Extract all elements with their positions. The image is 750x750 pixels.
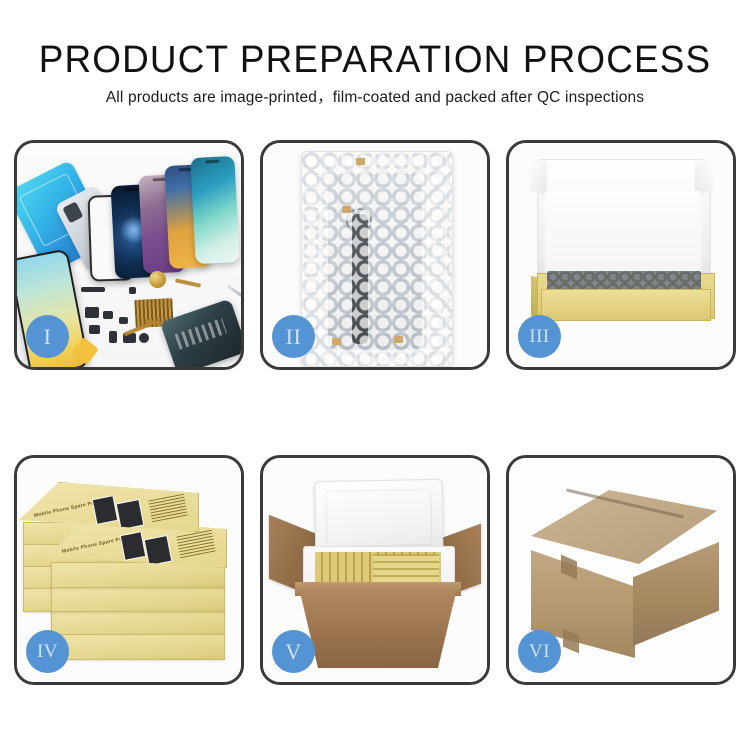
step-card-6: VI [506, 455, 736, 685]
step-badge-4: IV [26, 630, 69, 673]
bubble-wrap-bag [301, 151, 453, 367]
header: PRODUCT PREPARATION PROCESS All products… [0, 0, 750, 107]
step-card-1: I [14, 140, 244, 370]
page-subtitle: All products are image-printed，film-coat… [0, 89, 750, 107]
step-badge-1: I [26, 315, 69, 358]
step-badge-3: III [518, 315, 561, 358]
page-title: PRODUCT PREPARATION PROCESS [11, 40, 739, 80]
step-badge-5: V [272, 630, 315, 673]
spare-parts-scatter [79, 269, 241, 367]
step-card-5: V [260, 455, 490, 685]
foam-insert [545, 191, 701, 275]
outer-carton-body [299, 588, 457, 668]
step-badge-2: II [272, 315, 315, 358]
product-preparation-infographic: PRODUCT PREPARATION PROCESS All products… [0, 0, 750, 750]
step-card-4: Mobile Phone Spare Parts Mobile Phone Sp… [14, 455, 244, 685]
step-card-3: III [506, 140, 736, 370]
step-badge-6: VI [518, 630, 561, 673]
process-step-grid: I II [14, 140, 736, 685]
phone-display-4 [190, 156, 239, 264]
step-card-2: II [260, 140, 490, 370]
